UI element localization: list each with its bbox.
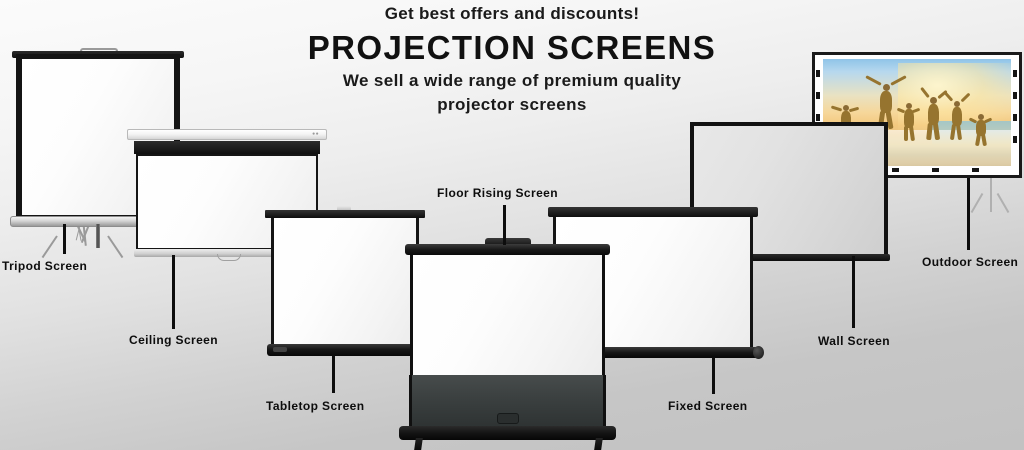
floor-rising-foot-right	[594, 438, 603, 450]
leader-line-floor-rising	[503, 205, 506, 245]
leader-line-outdoor	[967, 178, 970, 250]
label-floor-rising-screen: Floor Rising Screen	[437, 186, 558, 200]
outdoor-stand-leg-left	[971, 193, 984, 213]
floor-rising-screen-surface	[410, 255, 605, 375]
tagline: Get best offers and discounts!	[0, 4, 1024, 24]
outdoor-stand-leg-right	[997, 193, 1010, 213]
label-tripod-screen: Tripod Screen	[2, 259, 87, 273]
leader-line-wall	[852, 256, 855, 328]
leader-line-ceiling	[172, 255, 175, 329]
frame-grommet	[1013, 136, 1017, 143]
floor-rising-foot-left	[414, 438, 423, 450]
tabletop-top-bar	[265, 210, 425, 218]
tripod-center-post	[96, 224, 100, 248]
frame-grommet	[972, 168, 979, 172]
frame-grommet	[816, 92, 820, 99]
fixed-top-bar	[548, 207, 758, 217]
label-fixed-screen: Fixed Screen	[668, 399, 748, 413]
outdoor-stand-leg-center	[990, 192, 992, 212]
frame-grommet	[892, 168, 899, 172]
label-outdoor-screen: Outdoor Screen	[922, 255, 1018, 269]
tripod-foot-left	[107, 235, 123, 258]
label-wall-screen: Wall Screen	[818, 334, 890, 348]
leader-line-tripod	[63, 224, 66, 254]
fixed-end-cap-icon	[753, 346, 764, 359]
tripod-foot-right	[42, 235, 58, 258]
leader-line-tabletop	[332, 355, 335, 393]
frame-grommet	[816, 70, 820, 77]
label-ceiling-screen: Ceiling Screen	[129, 333, 218, 347]
floor-rising-top-bar	[405, 244, 610, 255]
frame-grommet	[932, 168, 939, 172]
frame-grommet	[816, 114, 820, 121]
frame-grommet	[1013, 114, 1017, 121]
ceiling-case-bar	[127, 129, 327, 140]
tabletop-screen-surface	[271, 218, 419, 344]
leader-line-fixed	[712, 357, 715, 394]
pull-handle-icon[interactable]	[217, 254, 241, 261]
frame-grommet	[1013, 92, 1017, 99]
ceiling-black-mask	[134, 141, 320, 154]
brand-logo: ●●	[312, 131, 319, 137]
product-tabletop-screen[interactable]	[265, 210, 425, 358]
floor-rising-dial-icon	[497, 413, 519, 424]
frame-grommet	[1013, 70, 1017, 77]
label-tabletop-screen: Tabletop Screen	[266, 399, 364, 413]
floor-rising-base-bar	[399, 426, 616, 440]
projection-screens-banner: Get best offers and discounts! PROJECTIO…	[0, 0, 1024, 450]
product-floor-rising-screen[interactable]	[405, 244, 610, 444]
tabletop-roller-bar	[267, 344, 423, 356]
tabletop-brand-tab	[273, 347, 287, 352]
